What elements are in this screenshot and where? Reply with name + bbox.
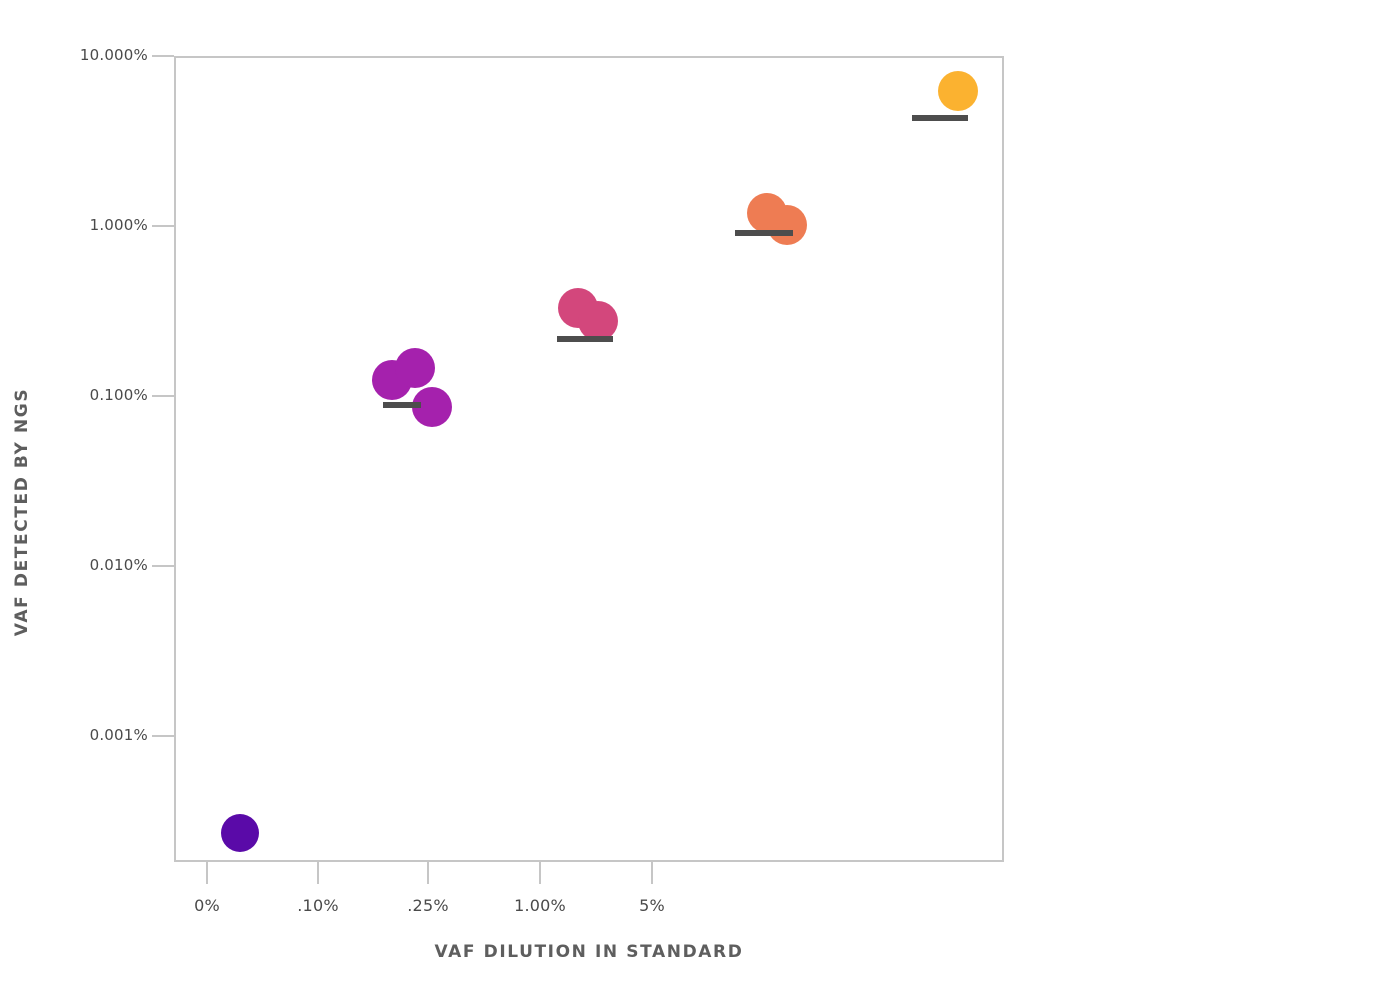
x-axis-tick — [206, 862, 208, 884]
data-point — [578, 301, 618, 341]
y-axis-title-label: VAF DETECTED BY NGS — [12, 388, 32, 636]
y-axis-tick — [152, 225, 174, 227]
x-axis-tick-label: .25% — [407, 896, 448, 915]
y-axis-tick-label: 10.000% — [80, 46, 148, 64]
median-bar — [557, 336, 613, 342]
median-bar — [383, 402, 421, 408]
x-axis-tick-label: .10% — [297, 896, 338, 915]
y-axis-tick — [152, 55, 174, 57]
y-axis-tick — [152, 565, 174, 567]
x-axis-title: VAF DILUTION IN STANDARD — [174, 942, 1004, 962]
y-axis-tick — [152, 735, 174, 737]
y-axis-tick-label: 0.001% — [90, 726, 148, 744]
y-axis-tick-label: 0.010% — [90, 556, 148, 574]
x-axis-tick — [427, 862, 429, 884]
y-axis-title: VAF DETECTED BY NGS — [0, 0, 44, 994]
data-point — [221, 814, 259, 852]
data-point — [767, 205, 807, 245]
y-axis-tick — [152, 395, 174, 397]
x-axis-tick-label: 1.00% — [514, 896, 566, 915]
x-axis-tick — [539, 862, 541, 884]
x-axis-tick — [651, 862, 653, 884]
scatter-plot-figure: VAF DETECTED BY NGS 10.000%1.000%0.100%0… — [0, 0, 1400, 994]
x-axis-tick — [317, 862, 319, 884]
median-bar — [735, 230, 793, 236]
median-bar — [912, 115, 968, 121]
y-axis-tick-label: 0.100% — [90, 386, 148, 404]
x-axis-tick-label: 0% — [194, 896, 220, 915]
plot-area — [174, 56, 1004, 862]
y-axis-tick-label: 1.000% — [90, 216, 148, 234]
data-point — [395, 348, 435, 388]
x-axis-tick-label: 5% — [639, 896, 665, 915]
data-point — [938, 71, 978, 111]
